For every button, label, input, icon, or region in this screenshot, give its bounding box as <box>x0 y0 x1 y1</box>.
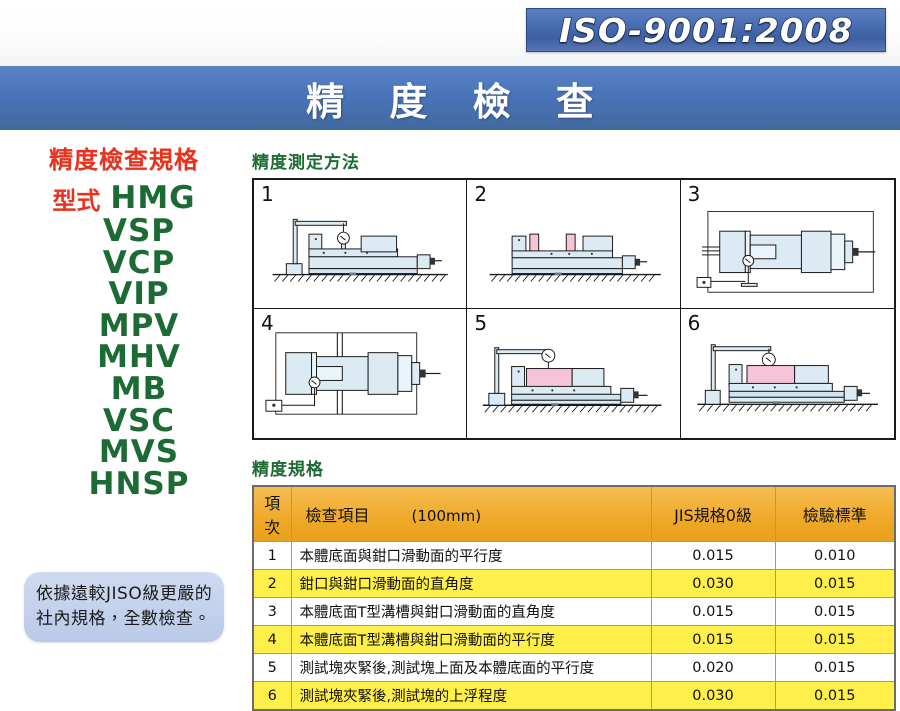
diagram-cell-1: 1 <box>254 180 467 309</box>
diagram-cell-3: 3 <box>681 180 894 309</box>
table-header-row: 項次 檢查項目(100mm) JIS規格0級 檢驗標準 <box>253 486 895 542</box>
accuracy-spec-table: 項次 檢查項目(100mm) JIS規格0級 檢驗標準 1 本體底面與鉗口滑動面… <box>252 485 896 711</box>
cell-item: 本體底面T型溝槽與鉗口滑動面的直角度 <box>291 598 651 626</box>
sidebar-spec-title: 精度檢查規格 <box>0 140 248 175</box>
model-name: VIP <box>30 279 248 311</box>
cell-index: 3 <box>253 598 291 626</box>
header-index: 項次 <box>253 486 291 542</box>
table-row: 1 本體底面與鉗口滑動面的平行度 0.015 0.010 <box>253 542 895 570</box>
top-header-area: ISO-9001:2008 <box>0 0 900 66</box>
cell-standard: 0.015 <box>775 626 895 654</box>
sidebar: 精度檢查規格 型式 HMG VSP VCP VIP MPV MHV MB VSC… <box>0 130 248 685</box>
cell-jis: 0.015 <box>651 598 775 626</box>
cell-index: 2 <box>253 570 291 598</box>
cell-item: 測試塊夾緊後,測試塊的上浮程度 <box>291 682 651 711</box>
cell-index: 6 <box>253 682 291 711</box>
table-row: 3 本體底面T型溝槽與鉗口滑動面的直角度 0.015 0.015 <box>253 598 895 626</box>
model-name: MHV <box>30 342 248 374</box>
cell-index: 5 <box>253 654 291 682</box>
table-row: 4 本體底面T型溝槽與鉗口滑動面的平行度 0.015 0.015 <box>253 626 895 654</box>
cell-standard: 0.015 <box>775 654 895 682</box>
inspection-note-box: 依據遠較JISO級更嚴的 社內規格，全數檢查。 <box>24 572 224 642</box>
vise-side-view-testblock-lift-icon <box>681 309 894 438</box>
cell-jis: 0.030 <box>651 682 775 711</box>
model-name: MPV <box>30 311 248 343</box>
diagram-number: 4 <box>261 311 274 335</box>
cell-item: 本體底面T型溝槽與鉗口滑動面的平行度 <box>291 626 651 654</box>
page-title: 精 度 檢 查 <box>290 71 610 126</box>
note-line: 依據遠較JISO級更嚴的 <box>36 582 214 607</box>
cell-item: 本體底面與鉗口滑動面的平行度 <box>291 542 651 570</box>
measurement-method-diagram-grid: 1 <box>252 178 896 440</box>
table-row: 2 鉗口與鉗口滑動面的直角度 0.030 0.015 <box>253 570 895 598</box>
model-name: HMG <box>110 183 195 215</box>
spec-heading: 精度規格 <box>252 455 896 480</box>
cell-jis: 0.030 <box>651 570 775 598</box>
vise-side-view-with-angle-blocks-icon <box>467 180 679 308</box>
diagram-cell-2: 2 <box>467 180 680 309</box>
table-header: 項次 檢查項目(100mm) JIS規格0級 檢驗標準 <box>253 486 895 542</box>
model-name: VCP <box>30 248 248 280</box>
header-item-label: 檢查項目 <box>306 506 370 525</box>
header-jis: JIS規格0級 <box>651 486 775 542</box>
header-standard: 檢驗標準 <box>775 486 895 542</box>
cell-item: 鉗口與鉗口滑動面的直角度 <box>291 570 651 598</box>
model-name: VSC <box>30 406 248 438</box>
spec-section: 精度規格 項次 檢查項目(100mm) JIS規格0級 檢驗標準 1 本體底面與… <box>252 455 896 711</box>
cell-jis: 0.015 <box>651 626 775 654</box>
model-type-label: 型式 <box>52 181 100 216</box>
diagram-cell-4: 4 <box>254 309 467 438</box>
cell-jis: 0.015 <box>651 542 775 570</box>
diagram-cell-5: 5 <box>467 309 680 438</box>
measurement-method-heading: 精度測定方法 <box>252 148 896 173</box>
table-row: 5 測試塊夾緊後,測試塊上面及本體底面的平行度 0.020 0.015 <box>253 654 895 682</box>
page-title-banner: 精 度 檢 查 <box>0 66 900 130</box>
diagram-number: 2 <box>474 182 487 206</box>
header-item-note: (100mm) <box>412 507 482 525</box>
model-name: MB <box>30 374 248 406</box>
cell-standard: 0.010 <box>775 542 895 570</box>
diagram-number: 1 <box>261 182 274 206</box>
main-content: 精度測定方法 1 <box>252 148 896 711</box>
cell-standard: 0.015 <box>775 598 895 626</box>
diagram-number: 5 <box>474 311 487 335</box>
vise-top-view-with-dial-gauge-icon <box>681 180 894 308</box>
cell-jis: 0.020 <box>651 654 775 682</box>
iso-certification-badge: ISO-9001:2008 <box>526 8 886 52</box>
model-type-block: 型式 HMG VSP VCP VIP MPV MHV MB VSC MVS HN… <box>0 181 248 500</box>
cell-index: 4 <box>253 626 291 654</box>
diagram-number: 6 <box>688 311 701 335</box>
cell-item: 測試塊夾緊後,測試塊上面及本體底面的平行度 <box>291 654 651 682</box>
vise-side-view-with-dial-gauge-icon <box>254 180 466 308</box>
cell-index: 1 <box>253 542 291 570</box>
model-name: VSP <box>30 216 248 248</box>
model-name-list: VSP VCP VIP MPV MHV MB VSC MVS HNSP <box>30 216 248 500</box>
note-line: 社內規格，全數檢查。 <box>36 607 214 632</box>
diagram-number: 3 <box>688 182 701 206</box>
vise-side-view-clamped-testblock-icon <box>467 309 679 438</box>
model-name: MVS <box>30 437 248 469</box>
cell-standard: 0.015 <box>775 682 895 711</box>
diagram-cell-6: 6 <box>681 309 894 438</box>
model-first-row: 型式 HMG <box>0 181 248 216</box>
header-item: 檢查項目(100mm) <box>291 486 651 542</box>
table-row: 6 測試塊夾緊後,測試塊的上浮程度 0.030 0.015 <box>253 682 895 711</box>
iso-badge-label: ISO-9001:2008 <box>559 11 853 50</box>
model-name: HNSP <box>30 469 248 501</box>
cell-standard: 0.015 <box>775 570 895 598</box>
vise-top-view-tslot-gauge-icon <box>254 309 466 438</box>
